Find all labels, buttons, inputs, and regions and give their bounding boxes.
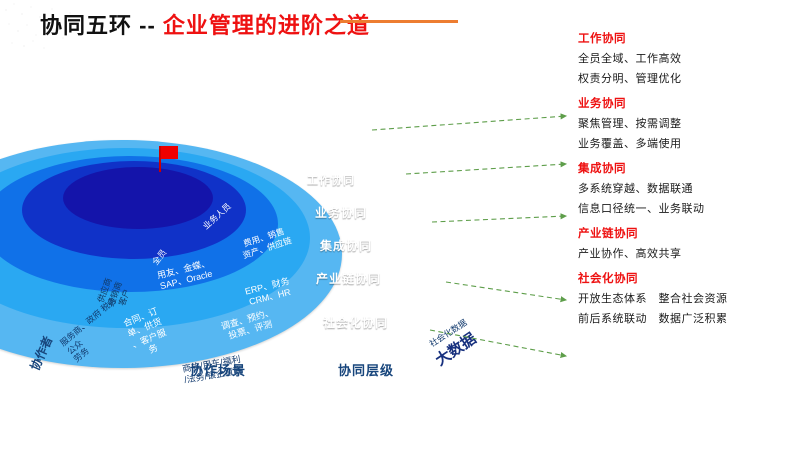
page-title-main: 协同五环 bbox=[40, 13, 132, 38]
legend-head-chain: 产业链协同 bbox=[578, 225, 783, 241]
legend-head-integration: 集成协同 bbox=[578, 160, 783, 176]
legend-line: 多系统穿越、数据联通 bbox=[578, 180, 783, 196]
title-underline-rule bbox=[340, 20, 458, 23]
legend-group-business: 业务协同 聚焦管理、按需调整 业务覆盖、多端使用 bbox=[578, 95, 783, 151]
core-tokens-line-1: 人力 财务 公文 协同 表单 行政 bbox=[266, 115, 427, 129]
caption-collaboration-scene: 协作场景 bbox=[190, 360, 246, 379]
ring-label-chain: 产业链协同 bbox=[316, 270, 381, 287]
legend-head-work: 工作协同 bbox=[578, 30, 783, 46]
label-business-data: 业务数据 bbox=[387, 240, 422, 265]
page-title-dash: -- bbox=[132, 13, 163, 38]
red-flag-icon bbox=[159, 146, 179, 172]
legend-group-work: 工作协同 全员全域、工作高效 权责分明、管理优化 bbox=[578, 30, 783, 86]
legend-panel: 工作协同 全员全域、工作高效 权责分明、管理优化 业务协同 聚焦管理、按需调整 … bbox=[578, 30, 783, 335]
legend-group-social: 社会化协同 开放生态体系 整合社会资源 前后系统联动 数据广泛积累 bbox=[578, 270, 783, 326]
core-tokens-line-2: 文化 目标 计划 知识 会议 物品 bbox=[263, 131, 424, 145]
legend-line: 业务覆盖、多端使用 bbox=[578, 135, 783, 151]
page-title-highlight: 企业管理的进阶之道 bbox=[163, 13, 370, 38]
legend-line: 权责分明、管理优化 bbox=[578, 70, 783, 86]
legend-line: 全员全域、工作高效 bbox=[578, 50, 783, 66]
ring-label-social: 社会化协同 bbox=[323, 314, 388, 331]
page-title: 协同五环 -- 企业管理的进阶之道 bbox=[40, 8, 370, 40]
legend-line: 开放生态体系 整合社会资源 bbox=[578, 290, 783, 306]
ring-label-work: 工作协同 bbox=[307, 172, 355, 188]
label-behavior-data: 行为数据 bbox=[396, 198, 430, 225]
caption-collaboration-level: 协同层级 bbox=[338, 360, 394, 379]
legend-line: 产业协作、高效共享 bbox=[578, 245, 783, 261]
legend-group-integration: 集成协同 多系统穿越、数据联通 信息口径统一、业务联动 bbox=[578, 160, 783, 216]
ring-label-integration: 集成协同 bbox=[320, 237, 372, 254]
legend-line: 信息口径统一、业务联动 bbox=[578, 200, 783, 216]
ring-label-business: 业务协同 bbox=[315, 204, 367, 221]
legend-group-chain: 产业链协同 产业协作、高效共享 bbox=[578, 225, 783, 261]
legend-head-business: 业务协同 bbox=[578, 95, 783, 111]
legend-line: 聚焦管理、按需调整 bbox=[578, 115, 783, 131]
legend-head-social: 社会化协同 bbox=[578, 270, 783, 286]
label-behavior-plus-business: 行为数据+业务数据 bbox=[396, 262, 448, 303]
ring-work-collaboration[interactable] bbox=[63, 167, 213, 229]
legend-line: 前后系统联动 数据广泛积累 bbox=[578, 310, 783, 326]
